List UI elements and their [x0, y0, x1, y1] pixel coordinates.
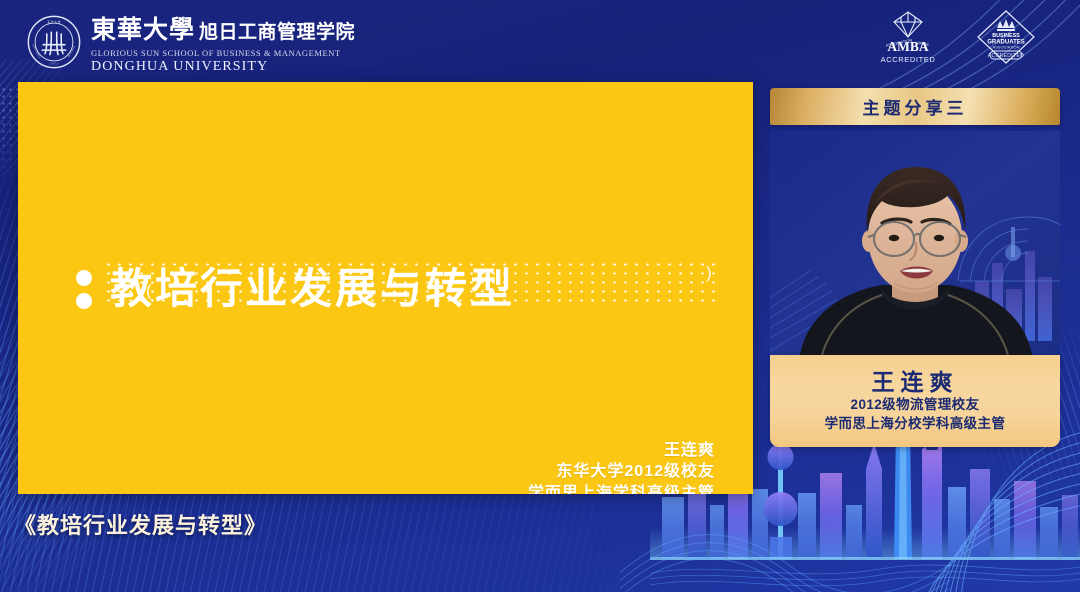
slide-presenter-block: 王连爽 东华大学2012级校友 学而思上海学科高级主管 [528, 440, 715, 494]
university-name-cn: 東華大學 旭日工商管理学院 [91, 10, 355, 46]
svg-text:ACCREDITED: ACCREDITED [988, 53, 1025, 59]
speaker-job-title: 学而思上海分校学科高级主管 [825, 414, 1006, 433]
svg-text:ACCREDITED: ACCREDITED [881, 55, 936, 64]
svg-text:东 华 大 学: 东 华 大 学 [47, 20, 60, 24]
speaker-name: 王连爽 [872, 369, 959, 395]
university-logo: 东 华 大 学 · 1 9 5 1 · DONGHUA UNIVERSITY 東… [27, 9, 355, 75]
donghua-university-seal-icon: 东 华 大 学 · 1 9 5 1 · DONGHUA UNIVERSITY [27, 15, 81, 69]
slide-title-row: 教培行业发展与转型 [76, 268, 515, 310]
university-school-name: 旭日工商管理学院 [199, 17, 355, 44]
session-banner: 主题分享三 [770, 88, 1060, 125]
university-main-name: 東華大學 [91, 10, 195, 46]
broadcast-stage: 东 华 大 学 · 1 9 5 1 · DONGHUA UNIVERSITY 東… [0, 0, 1080, 592]
university-logo-text: 東華大學 旭日工商管理学院 GLORIOUS SUN SCHOOL OF BUS… [91, 10, 355, 75]
presenter-affiliation: 东华大学2012级校友 [528, 461, 715, 482]
speaker-name-card: 王连爽 2012级物流管理校友 学而思上海分校学科高级主管 [770, 355, 1060, 447]
accreditation-logos: AMBA ASSOCIATION MBAs ACCREDITED BUSINES… [874, 6, 1040, 68]
presenter-title: 学而思上海学科高级主管 [528, 483, 715, 494]
two-dots-marker-icon [76, 270, 92, 309]
svg-text:BUSINESS: BUSINESS [992, 33, 1020, 39]
speaker-alumni-info: 2012级物流管理校友 [851, 395, 980, 414]
slide-paren-right: ) [706, 264, 712, 281]
session-banner-label: 主题分享三 [863, 94, 968, 119]
slide-title: 教培行业发展与转型 [110, 268, 515, 310]
presentation-slide[interactable]: ( ) 教培行业发展与转型 王连爽 东华大学2012级校友 学而思上海学科高级主… [18, 82, 753, 494]
speaker-panel: 主题分享三 [770, 88, 1060, 447]
university-name-en: DONGHUA UNIVERSITY [91, 59, 355, 75]
presenter-name: 王连爽 [528, 440, 715, 461]
bga-accredited-logo-icon: BUSINESS GRADUATES ASSOCIATION ACCREDITE… [972, 6, 1040, 68]
svg-text:ASSOCIATION: ASSOCIATION [992, 45, 1019, 50]
wave-decoration-bottom-right-icon [810, 422, 1080, 592]
session-topic-caption: 《教培行业发展与转型》 [14, 508, 267, 540]
amba-accredited-logo-icon: AMBA ASSOCIATION MBAs ACCREDITED [874, 6, 942, 68]
svg-text:· 1 9 5 1 ·: · 1 9 5 1 · [49, 63, 60, 66]
speaker-video-image-icon [770, 131, 1060, 355]
school-name-en: GLORIOUS SUN SCHOOL OF BUSINESS & MANAGE… [91, 48, 355, 58]
page-header: 东 华 大 学 · 1 9 5 1 · DONGHUA UNIVERSITY 東… [0, 0, 1080, 76]
speaker-video-feed[interactable] [770, 131, 1060, 355]
